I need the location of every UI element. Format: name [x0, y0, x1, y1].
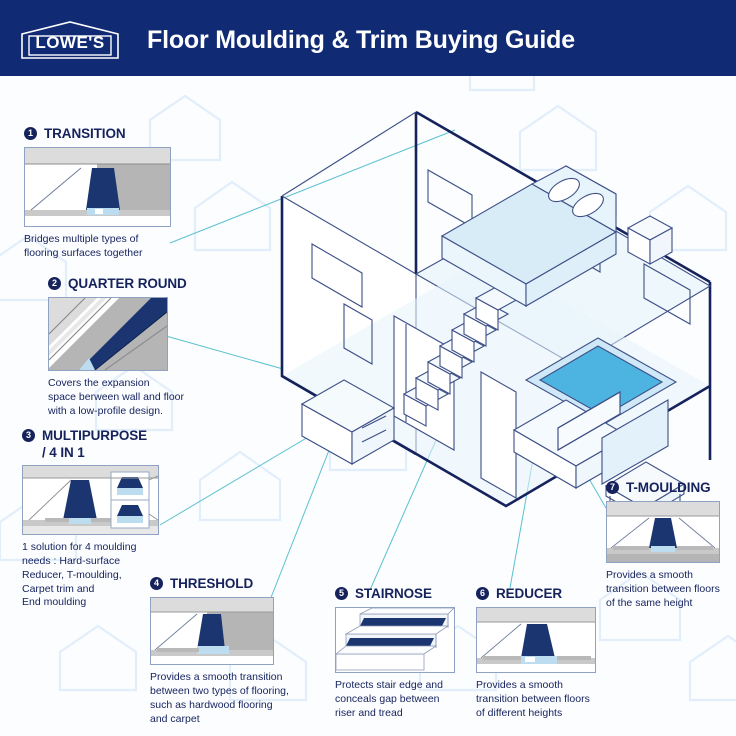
lowes-logo[interactable]: LOWE'S	[18, 20, 122, 60]
callout-t-moulding: 7 T-MOULDING Provides a smooth transitio…	[606, 480, 720, 611]
callout-description: Protects stair edge and conceals gap bet…	[335, 679, 455, 721]
callout-header: 2 QUARTER ROUND	[48, 276, 187, 291]
callout-title: MULTIPURPOSE	[42, 428, 147, 443]
threshold-swatch-image	[150, 597, 274, 665]
quarter-round-swatch-image	[48, 297, 168, 371]
callout-description: Provides a smooth transition between flo…	[476, 679, 596, 721]
callout-header: 6 REDUCER	[476, 586, 596, 601]
callout-stairnose: 5 STAIRNOSE Protects stair edge and conc…	[335, 586, 455, 721]
callout-description: Provides a smooth transition between flo…	[606, 569, 720, 611]
callout-description: Bridges multiple types of flooring surfa…	[24, 233, 171, 261]
callout-number-badge: 6	[476, 587, 489, 600]
callout-header: 1 TRANSITION	[24, 126, 171, 141]
callout-header: 3 MULTIPURPOSE	[22, 428, 159, 443]
callout-reducer: 6 REDUCER Provides a smooth transition b…	[476, 586, 596, 721]
callout-number-badge: 4	[150, 577, 163, 590]
callout-multipurpose: 3 MULTIPURPOSE / 4 IN 1 1 solution for	[22, 428, 159, 610]
callout-title: QUARTER ROUND	[68, 276, 187, 291]
callout-title: THRESHOLD	[170, 576, 253, 591]
callout-header: 4 THRESHOLD	[150, 576, 289, 591]
callout-description: 1 solution for 4 moulding needs : Hard-s…	[22, 541, 159, 610]
isometric-house-illustration: .nv{stroke:#16225c;stroke-width:2.6;fill…	[276, 86, 716, 546]
callout-title: T-MOULDING	[626, 480, 711, 495]
page-title: Floor Moulding & Trim Buying Guide	[147, 26, 575, 55]
lowes-logo-text: LOWE'S	[18, 20, 122, 60]
callout-quarter-round: 2 QUARTER ROUND Covers the expansion spa…	[48, 276, 187, 419]
transition-swatch-image	[24, 147, 171, 227]
callout-title: STAIRNOSE	[355, 586, 432, 601]
callout-header: 7 T-MOULDING	[606, 480, 720, 495]
page-header: LOWE'S Floor Moulding & Trim Buying Guid…	[0, 0, 736, 76]
callout-title: REDUCER	[496, 586, 562, 601]
callout-description: Covers the expansion space berween wall …	[48, 377, 187, 419]
callout-threshold: 4 THRESHOLD Provides a smooth transition…	[150, 576, 289, 726]
callout-transition: 1 TRANSITION Bridges multiple types of f…	[24, 126, 171, 261]
multipurpose-swatch-image	[22, 465, 159, 535]
callout-number-badge: 7	[606, 481, 619, 494]
callout-number-badge: 5	[335, 587, 348, 600]
callout-title-line2: / 4 IN 1	[42, 445, 159, 460]
callout-title: TRANSITION	[44, 126, 126, 141]
reducer-swatch-image	[476, 607, 596, 673]
callout-number-badge: 3	[22, 429, 35, 442]
callout-number-badge: 2	[48, 277, 61, 290]
t-moulding-swatch-image	[606, 501, 720, 563]
infographic-canvas: LOWE'S Floor Moulding & Trim Buying Guid…	[0, 0, 736, 736]
callout-number-badge: 1	[24, 127, 37, 140]
stairnose-swatch-image	[335, 607, 455, 673]
callout-description: Provides a smooth transition between two…	[150, 671, 289, 726]
callout-header: 5 STAIRNOSE	[335, 586, 455, 601]
